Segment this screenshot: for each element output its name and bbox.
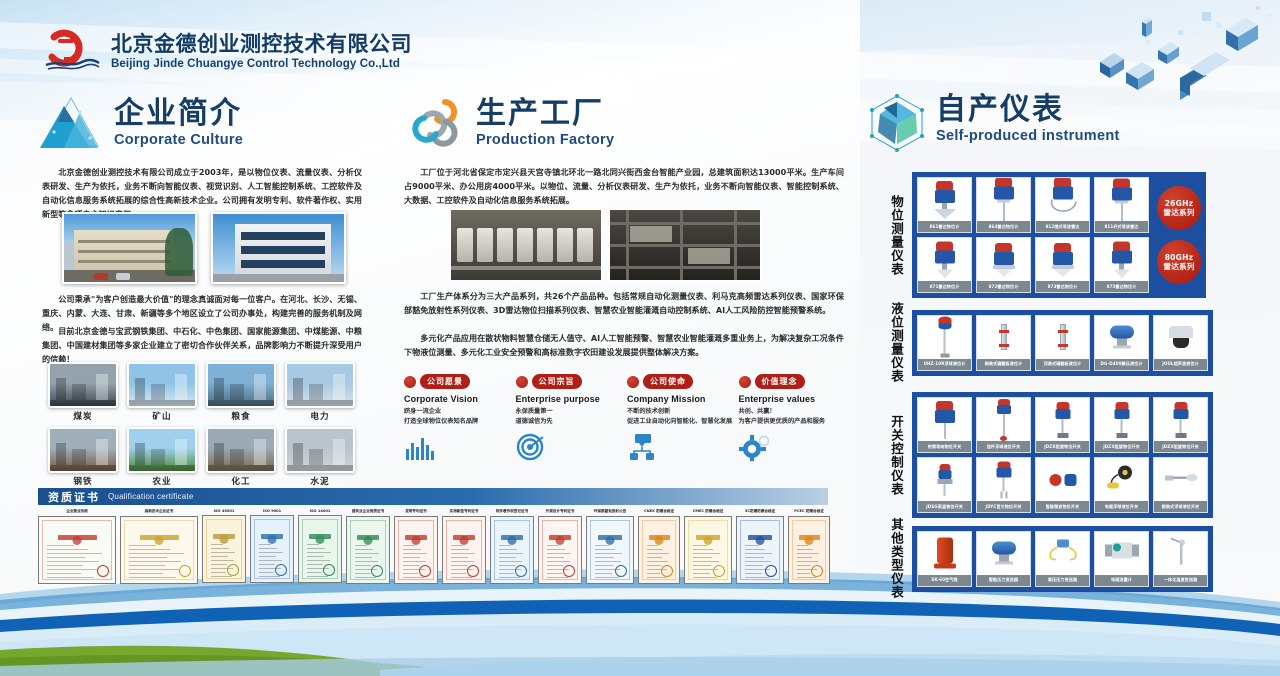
product-group-box: 861雷达物位计864雷达物位计812缆式导波雷达811杆式导波雷达871雷达物… [912,172,1206,298]
red-dot-icon [627,376,639,388]
certificate-label: ISO 14001 [298,509,342,513]
value-card: 公司使命Company Mission不断的技术创新促进工业自动化向智能化、智慧… [627,374,733,461]
product-card[interactable]: 射频导纳物位开关 [917,397,972,453]
value-pill-label: 公司愿景 [420,374,470,389]
factory-title-en: Production Factory [476,132,614,148]
product-badge-column: 26GHz雷达系列80GHz雷达系列 [1157,186,1201,284]
product-image [918,238,971,281]
product-caption: 871雷达物位计 [918,281,971,292]
product-card[interactable]: JDZX阻旋物位开关 [1153,397,1208,453]
product-image [1154,532,1207,575]
certificate-image [490,516,534,584]
certificate-item: 高新技术企业证书 [120,509,198,584]
certificate-label: 外观设计专利证书 [538,509,582,514]
product-card[interactable]: UHZ-10R浮球液位计 [917,315,972,371]
badge-line-2: 雷达系列 [1163,262,1194,271]
product-image [918,398,971,441]
product-image [918,316,971,359]
certificate-item: 建筑业企业资质证书 [346,509,390,584]
industry-label: 农业 [127,475,197,487]
certificate-label: PCEC 防爆合格证 [788,509,830,514]
product-card[interactable]: DG-D400静压液位计 [1094,315,1149,371]
product-image [918,178,971,221]
factory-title-cn: 生产工厂 [476,98,614,130]
certificate-item: 企业营业执照 [38,509,116,584]
network-node-icon [627,433,733,461]
industry-photo [206,362,276,408]
certificate-image [38,516,116,584]
poster-canvas: 北京金德创业测控技术有限公司 Beijing Jinde Chuangye Co… [0,0,1280,676]
certificate-item: 外观设计专利证书 [538,509,582,584]
product-caption: DG-D400静压液位计 [1095,359,1148,370]
certificate-item: 3C防爆防爆合格证 [736,509,784,584]
product-image [1036,458,1089,501]
product-caption: 812缆式导波雷达 [1036,221,1089,232]
industry-photo [48,427,118,473]
product-group-box: SK-60空气炮智能压力变送器差压压力变送器电磁流量计一体化温度变送器 [912,526,1213,592]
value-lines: 跻身一流企业打造全球物位仪表知名品牌 [404,407,510,426]
polygon-network-icon [862,88,924,150]
industry-label: 粮食 [206,410,276,422]
industry-cell: 化工 [206,427,276,487]
value-card: 公司宗旨Enterprise purpose永保质量第一道德诚信为先 [516,374,622,461]
certificate-item: 环保部豁免放射公告 [586,509,634,584]
product-image [1095,398,1148,441]
product-card[interactable]: 顶装式磁翻板液位计 [1035,315,1090,371]
qualification-title-cn: 资质证书 [48,489,100,505]
product-card[interactable]: 连杆浮球液位开关 [976,397,1031,453]
red-dot-icon [516,376,528,388]
certificate-item: CNEX 防爆合格证 [638,509,680,584]
product-card[interactable]: JDSG高温物位开关 [917,457,972,513]
industry-label: 矿山 [127,410,197,422]
product-caption: 电缆浮球液位开关 [1095,501,1148,512]
product-card[interactable]: 电磁流量计 [1094,531,1149,587]
product-caption: JDZX阻旋物位开关 [1095,441,1148,452]
office-building-photo-1 [62,212,197,284]
qualification-title-en: Qualification certificate [108,492,193,501]
qualification-header-bar: 资质证书 Qualification certificate [38,488,828,505]
certificate-image [638,516,680,584]
certificate-item: ISO 14001 [298,509,342,584]
product-group-label: 开关控制仪表 [886,415,906,496]
certificate-image [538,516,582,584]
product-card[interactable]: 侧装式浮球液位开关 [1153,457,1208,513]
certificate-image [736,516,784,584]
product-card[interactable]: 差压压力变送器 [1035,531,1090,587]
red-dot-icon [404,376,416,388]
product-card[interactable]: 872雷达物位计 [976,237,1031,293]
certificate-label: 建筑业企业资质证书 [346,509,390,514]
badge-line-1: 80GHz [1165,253,1194,262]
target-icon [516,433,622,461]
product-caption: JDZX阻旋物位开关 [1154,441,1207,452]
certificate-image [684,516,732,584]
product-image [1036,532,1089,575]
product-caption: SK-60空气炮 [918,575,971,586]
product-image [1036,178,1089,221]
value-card-header: 公司使命 [627,374,733,389]
product-group: 其他类型仪表SK-60空气炮智能压力变送器差压压力变送器电磁流量计一体化温度变送… [886,518,1213,599]
product-image [1095,238,1148,281]
certificate-image [788,516,830,584]
corporate-title-cn: 企业简介 [114,98,243,130]
product-card[interactable]: 812缆式导波雷达 [1035,177,1090,233]
product-card[interactable]: 电缆浮球液位开关 [1094,457,1149,513]
certificate-image [442,516,486,584]
product-card[interactable]: 智能压力变送器 [976,531,1031,587]
products-title-en: Self-produced instrument [936,128,1120,144]
product-caption: 差压压力变送器 [1036,575,1089,586]
product-image [1095,178,1148,221]
workshop-assembly-photo [450,209,602,281]
certificate-label: ISO 9001 [250,509,294,513]
value-lines: 永保质量第一道德诚信为先 [516,407,622,426]
product-caption: 811杆式导波雷达 [1095,221,1148,232]
frequency-badge: 26GHz雷达系列 [1157,186,1201,230]
product-group: 物位测量仪表861雷达物位计864雷达物位计812缆式导波雷达811杆式导波雷达… [886,172,1206,298]
certificate-item: PCEC 防爆合格证 [788,509,830,584]
product-grid: 射频导纳物位开关连杆浮球液位开关JDZX阻旋物位开关JDZX阻旋物位开关JDZX… [917,397,1208,513]
product-card[interactable]: JDZX阻旋物位开关 [1094,397,1149,453]
product-caption: UHZ-10R浮球液位计 [918,359,971,370]
certificate-label: 发明专利证书 [394,509,438,514]
product-caption: 873雷达物位计 [1036,281,1089,292]
product-group-label: 物位测量仪表 [886,195,906,276]
qualification-section: 资质证书 Qualification certificate 企业营业执照高新技… [38,488,828,584]
value-card-header: 公司愿景 [404,374,510,389]
industry-photo [206,427,276,473]
product-card[interactable]: 875雷达物位计 [1094,237,1149,293]
product-card[interactable]: JOUL超声波液位计 [1153,315,1208,371]
industry-cell: 水泥 [285,427,355,487]
product-group-label: 液位测量仪表 [886,302,906,383]
jd-monogram-logo-icon [44,27,100,75]
value-lines: 不断的技术创新促进工业自动化向智能化、智慧化发展 [627,407,733,426]
value-card-header: 公司宗旨 [516,374,622,389]
industry-cell: 煤炭 [48,362,118,422]
product-image [977,398,1030,441]
product-card[interactable]: SK-60空气炮 [917,531,972,587]
certificate-row: 企业营业执照高新技术企业证书ISO 45001ISO 9001ISO 14001… [38,509,828,584]
product-image [1036,316,1089,359]
workshop-racks-photo [609,209,761,281]
office-building-photo-2 [211,212,346,284]
corporate-values-row: 公司愿景Corporate Vision跻身一流企业打造全球物位仪表知名品牌公司… [404,374,844,461]
certificate-label: 环保部豁免放射公告 [586,509,634,514]
product-card[interactable]: JDZX阻旋物位开关 [1035,397,1090,453]
industry-cell: 电力 [285,362,355,422]
factory-paragraph-3: 多元化产品应用在散状物料智慧仓储无人值守、AI人工智能预警、智慧农业智能灌溉多重… [404,332,844,360]
industry-photo [285,427,355,473]
certificate-image [250,515,294,583]
product-card[interactable]: 侧装式磁翻板液位计 [976,315,1031,371]
product-caption: JDZX阻旋物位开关 [1036,441,1089,452]
product-image [977,178,1030,221]
factory-paragraph-1: 工厂位于河北省保定市定兴县天宫寺镇北环北一路北同兴街西金台智能产业园，总建筑面积… [404,166,844,208]
value-card: 价值理念Enterprise values共创、共赢！为客户提供更优质的产品和服… [739,374,845,461]
product-image [1154,458,1207,501]
product-image [1154,398,1207,441]
certificate-label: 高新技术企业证书 [120,509,198,514]
certificate-item: 软件著作权登记证书 [490,509,534,584]
product-caption: 861雷达物位计 [918,221,971,232]
certificate-label: 软件著作权登记证书 [490,509,534,514]
factory-paragraph-2: 工厂生产体系分为三大产品系列，共26个产品品种。包括常规自动化测量仪表、利马克高… [404,290,844,318]
product-caption: 射频导纳物位开关 [918,441,971,452]
product-card[interactable]: 一体化温度变送器 [1153,531,1208,587]
value-card: 公司愿景Corporate Vision跻身一流企业打造全球物位仪表知名品牌 [404,374,510,461]
product-image [918,532,971,575]
industry-cell: 农业 [127,427,197,487]
company-name-cn: 北京金德创业测控技术有限公司 [111,32,412,56]
product-card[interactable]: 861雷达物位计 [917,177,972,233]
product-caption: JDSG高温物位开关 [918,501,971,512]
corporate-title-en: Corporate Culture [114,132,243,148]
value-pill-label: 公司宗旨 [532,374,582,389]
product-card[interactable]: 智能微波物位开关 [1035,457,1090,513]
certificate-label: CNEX 防爆合格证 [638,509,680,514]
office-photo-row [62,212,346,284]
product-caption: 872雷达物位计 [977,281,1030,292]
product-image [1095,316,1148,359]
company-logo-block: 北京金德创业测控技术有限公司 Beijing Jinde Chuangye Co… [44,27,412,75]
industry-label: 化工 [206,475,276,487]
frequency-badge: 80GHz雷达系列 [1157,240,1201,284]
product-image [1154,316,1207,359]
industry-label: 钢铁 [48,475,118,487]
product-caption: JDYC音叉物位开关 [977,501,1030,512]
product-image [977,238,1030,281]
product-caption: 连杆浮球液位开关 [977,441,1030,452]
value-title-en: Enterprise values [739,394,845,404]
product-caption: 智能压力变送器 [977,575,1030,586]
section-title-corporate-culture: 企业简介 Corporate Culture [40,92,243,154]
product-card[interactable]: JDYC音叉物位开关 [976,457,1031,513]
product-caption: 一体化温度变送器 [1154,575,1207,586]
product-caption: 电磁流量计 [1095,575,1148,586]
product-image [1095,458,1148,501]
value-pill-label: 价值理念 [755,374,805,389]
certificate-item: ISO 45001 [202,509,246,584]
product-grid: 861雷达物位计864雷达物位计812缆式导波雷达811杆式导波雷达871雷达物… [917,177,1149,293]
value-title-en: Enterprise purpose [516,394,622,404]
industry-label: 煤炭 [48,410,118,422]
red-dot-icon [739,376,751,388]
certificate-item: 实用新型专利证书 [442,509,486,584]
certificate-image [120,516,198,584]
product-group-box: UHZ-10R浮球液位计侧装式磁翻板液位计顶装式磁翻板液位计DG-D400静压液… [912,310,1213,376]
certificate-label: 企业营业执照 [38,509,116,514]
certificate-image [346,516,390,584]
product-group: 液位测量仪表UHZ-10R浮球液位计侧装式磁翻板液位计顶装式磁翻板液位计DG-D… [886,302,1213,383]
gear-icon [739,433,845,461]
value-pill-label: 公司使命 [643,374,693,389]
section-title-self-produced: 自产仪表 Self-produced instrument [862,88,1120,150]
factory-photo-row [450,209,761,281]
certificate-image [586,516,634,584]
product-card[interactable]: 864雷达物位计 [976,177,1031,233]
industry-cell: 钢铁 [48,427,118,487]
product-image [1036,398,1089,441]
industry-photo [48,362,118,408]
industry-label: 水泥 [285,475,355,487]
certificate-label: 3C防爆防爆合格证 [736,509,784,514]
product-caption: 侧装式浮球液位开关 [1154,501,1207,512]
industry-cell: 粮食 [206,362,276,422]
product-caption: 顶装式磁翻板液位计 [1036,359,1089,370]
three-rings-icon [402,92,464,154]
product-image [977,458,1030,501]
product-image [918,458,971,501]
badge-line-2: 雷达系列 [1163,208,1194,217]
industry-cell: 矿山 [127,362,197,422]
industry-application-grid: 煤炭矿山粮食电力钢铁农业化工水泥 [48,362,358,487]
certificate-image [298,515,342,583]
products-title-cn: 自产仪表 [936,94,1120,126]
section-title-production-factory: 生产工厂 Production Factory [402,92,614,154]
product-image [1095,532,1148,575]
certificate-image [202,515,246,583]
product-card[interactable]: 811杆式导波雷达 [1094,177,1149,233]
badge-line-1: 26GHz [1165,199,1194,208]
product-caption: JOUL超声波液位计 [1154,359,1207,370]
bar-chart-icon [404,433,510,461]
value-title-en: Corporate Vision [404,394,510,404]
product-image [977,316,1030,359]
product-grid: UHZ-10R浮球液位计侧装式磁翻板液位计顶装式磁翻板液位计DG-D400静压液… [917,315,1208,371]
certificate-label: ISO 45001 [202,509,246,513]
corporate-paragraph-3: 目前北京金德与宝武钢铁集团、中石化、中色集团、国家能源集团、中煤能源、中粮集团、… [42,325,362,367]
industry-photo [127,427,197,473]
company-name-en: Beijing Jinde Chuangye Control Technolog… [111,58,412,70]
certificate-image [394,516,438,584]
product-caption: 864雷达物位计 [977,221,1030,232]
value-card-header: 价值理念 [739,374,845,389]
product-caption: 智能微波物位开关 [1036,501,1089,512]
certificate-item: 发明专利证书 [394,509,438,584]
product-card[interactable]: 873雷达物位计 [1035,237,1090,293]
product-group: 开关控制仪表射频导纳物位开关连杆浮球液位开关JDZX阻旋物位开关JDZX阻旋物位… [886,392,1213,518]
value-title-en: Company Mission [627,394,733,404]
certificate-item: ISO 9001 [250,509,294,584]
certificate-label: CMEC 防爆合格证 [684,509,732,514]
value-lines: 共创、共赢！为客户提供更优质的产品和服务 [739,407,845,426]
certificate-item: CMEC 防爆合格证 [684,509,732,584]
product-grid: SK-60空气炮智能压力变送器差压压力变送器电磁流量计一体化温度变送器 [917,531,1208,587]
product-image [977,532,1030,575]
product-caption: 侧装式磁翻板液位计 [977,359,1030,370]
product-group-label: 其他类型仪表 [886,518,906,599]
product-caption: 875雷达物位计 [1095,281,1148,292]
certificate-label: 实用新型专利证书 [442,509,486,514]
industry-photo [285,362,355,408]
industry-label: 电力 [285,410,355,422]
mountain-icon [40,92,102,154]
product-group-box: 射频导纳物位开关连杆浮球液位开关JDZX阻旋物位开关JDZX阻旋物位开关JDZX… [912,392,1213,518]
industry-photo [127,362,197,408]
product-image [1036,238,1089,281]
product-card[interactable]: 871雷达物位计 [917,237,972,293]
